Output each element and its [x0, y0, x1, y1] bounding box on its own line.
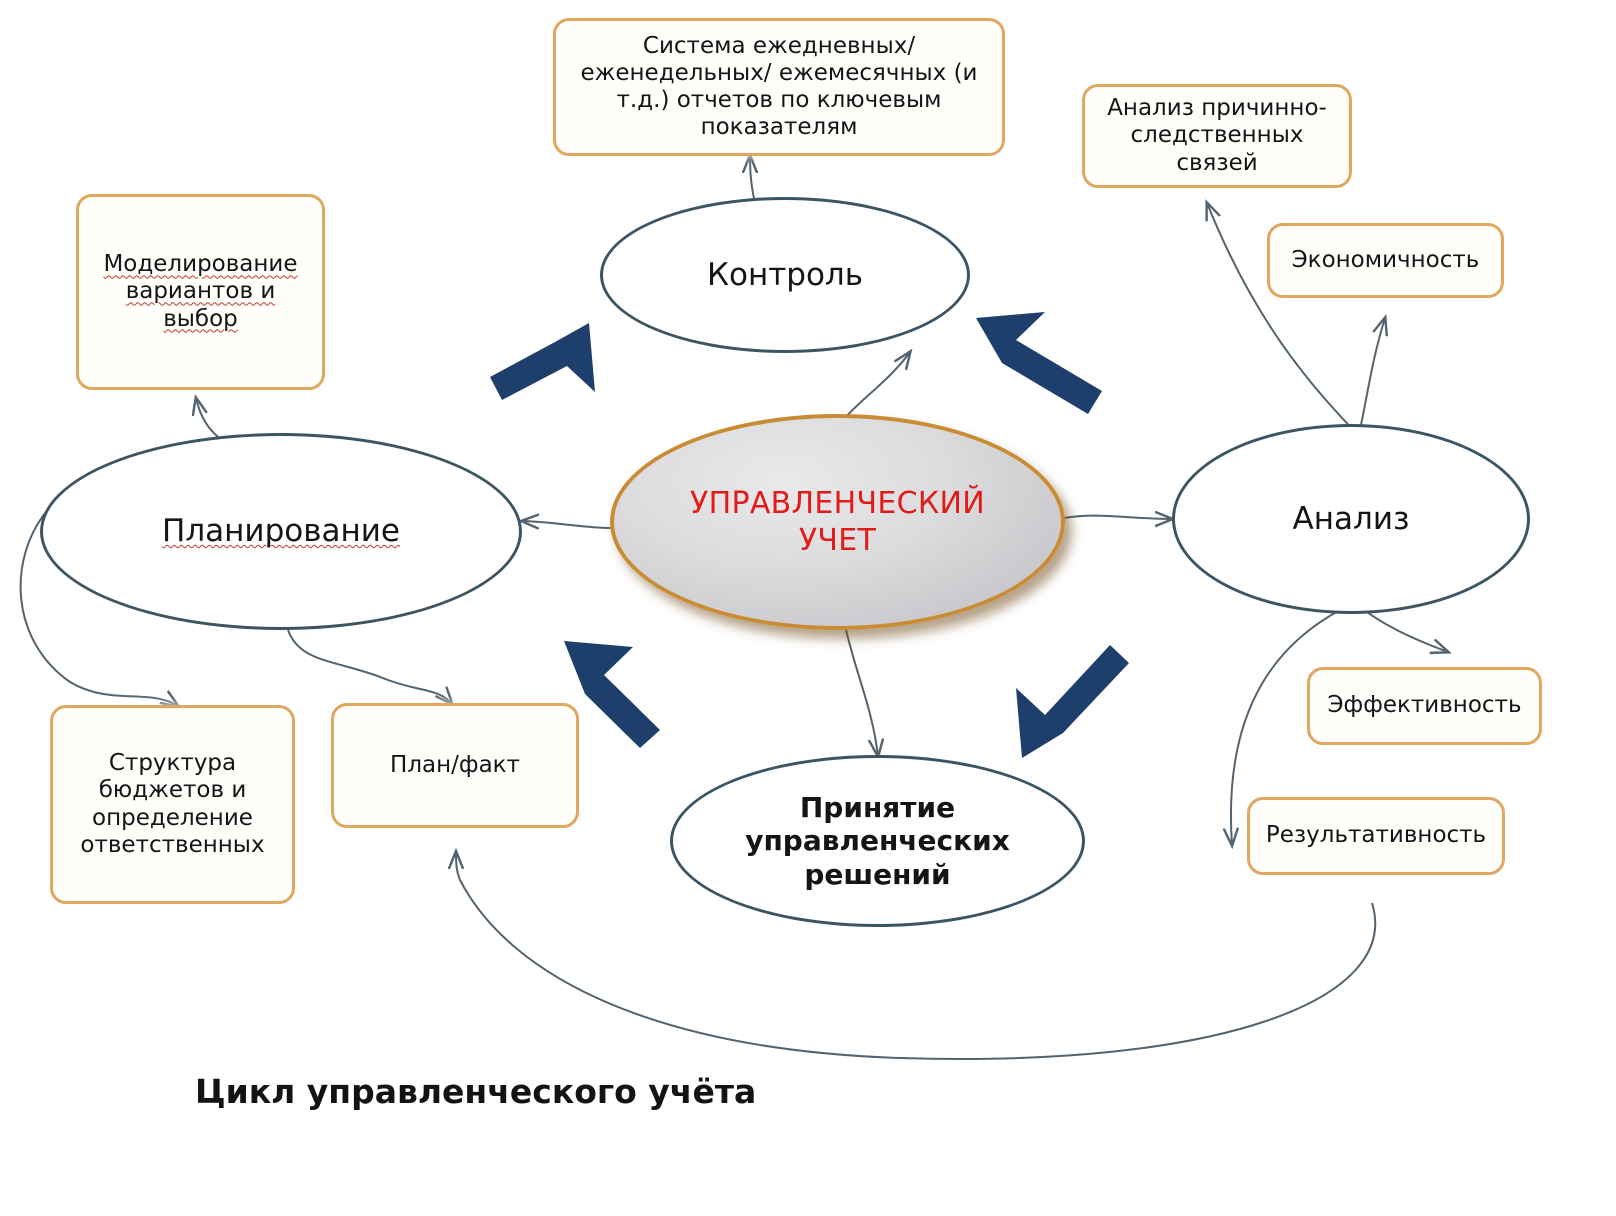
stage-label-analysis: Анализ — [1293, 501, 1410, 538]
stage-ellipse-analysis[interactable]: Анализ — [1172, 424, 1530, 614]
satellite-box-effectiveness[interactable]: Эффективность — [1307, 667, 1542, 745]
stage-ellipse-decision[interactable]: Принятие управленческих решений — [670, 755, 1085, 927]
satellite-label-causal: Анализ причинно-следственных связей — [1095, 95, 1339, 176]
satellite-label-productivity: Результативность — [1266, 822, 1486, 849]
satellite-label-planfact: План/факт — [390, 752, 520, 779]
satellite-label-reports: Система ежедневных/ еженедельных/ ежемес… — [566, 33, 992, 142]
satellite-label-modelling: Моделирование вариантов и выбор — [89, 251, 312, 332]
hub-line-2: УЧЕТ — [690, 522, 985, 560]
satellite-box-reports[interactable]: Система ежедневных/ еженедельных/ ежемес… — [553, 18, 1005, 156]
diagram-canvas: Система ежедневных/ еженедельных/ ежемес… — [0, 0, 1616, 1216]
satellite-box-causal[interactable]: Анализ причинно-следственных связей — [1082, 84, 1352, 188]
connector-planning-to-planfact — [288, 630, 452, 704]
block-arrow-planning-to-control — [490, 323, 595, 400]
connector-hub-to-control — [845, 352, 910, 418]
satellite-label-budgets: Структура бюджетов и определение ответст… — [63, 750, 282, 859]
diagram-caption: Цикл управленческого учёта — [195, 1072, 756, 1111]
connector-analysis-to-economy — [1360, 318, 1385, 430]
stage-label-decision: Принятие управленческих решений — [725, 791, 1030, 890]
stage-ellipse-control[interactable]: Контроль — [600, 197, 970, 353]
satellite-box-planfact[interactable]: План/факт — [331, 703, 579, 828]
connector-hub-to-planning — [522, 521, 612, 528]
hub-line-1: УПРАВЛЕНЧЕСКИЙ — [690, 485, 985, 523]
block-arrow-analysis-to-decision — [1016, 645, 1129, 758]
satellite-label-effectiveness: Эффективность — [1327, 692, 1521, 719]
stage-label-control: Контроль — [707, 257, 863, 294]
hub-text-block: УПРАВЛЕНЧЕСКИЙ УЧЕТ — [690, 485, 985, 560]
satellite-box-economy[interactable]: Экономичность — [1267, 223, 1504, 298]
block-arrow-control-to-analysis — [976, 312, 1102, 414]
connector-hub-to-decision — [845, 625, 878, 756]
satellite-box-modelling[interactable]: Моделирование вариантов и выбор — [76, 194, 325, 390]
satellite-box-budgets[interactable]: Структура бюджетов и определение ответст… — [50, 705, 295, 904]
stage-ellipse-planning[interactable]: Планирование — [40, 433, 522, 630]
connector-hub-to-analysis — [1064, 516, 1172, 519]
stage-label-planning: Планирование — [162, 513, 400, 550]
hub-ellipse-management-accounting[interactable]: УПРАВЛЕНЧЕСКИЙ УЧЕТ — [610, 414, 1065, 630]
satellite-box-productivity[interactable]: Результативность — [1247, 797, 1505, 875]
satellite-label-economy: Экономичность — [1292, 247, 1480, 274]
